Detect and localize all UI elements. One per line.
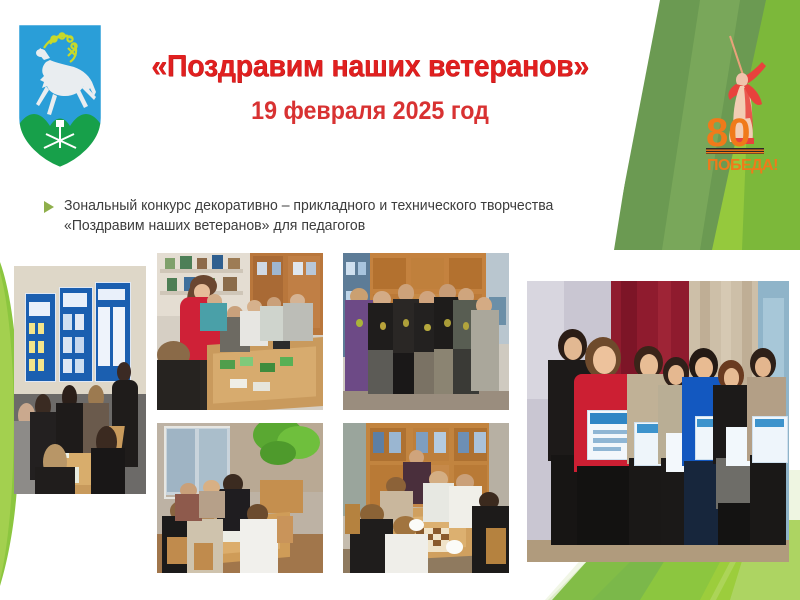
title-block: «Поздравим наших ветеранов» 19 февраля 2… [120, 48, 620, 126]
photo-certificate-ceremony [527, 281, 789, 562]
event-date: 19 февраля 2025 год [138, 96, 603, 126]
triangle-right-icon [44, 201, 54, 213]
photo-children-chess [343, 423, 509, 573]
bullet-text: Зональный конкурс декоративно – прикладн… [64, 196, 553, 236]
photo-children-window [157, 423, 323, 573]
photo-classroom-boards [14, 266, 146, 494]
slide: 80 ПОБЕДА! «Поздравим наших ветеранов» 1… [0, 0, 800, 600]
bullet-line-1: Зональный конкурс декоративно – прикладн… [64, 198, 553, 214]
victory-word: ПОБЕДА! [707, 157, 778, 174]
photo-workshop-red [157, 253, 323, 410]
coat-of-arms-icon [16, 22, 104, 170]
st-george-ribbon [706, 148, 764, 154]
page-title: «Поздравим наших ветеранов» [140, 48, 600, 84]
victory-80-logo: 80 ПОБЕДА! [700, 28, 780, 188]
photo-group-crafts [343, 253, 509, 410]
bullet-item: Зональный конкурс декоративно – прикладн… [44, 196, 644, 236]
bullet-line-2: «Поздравим наших ветеранов» для педагого… [64, 218, 365, 234]
